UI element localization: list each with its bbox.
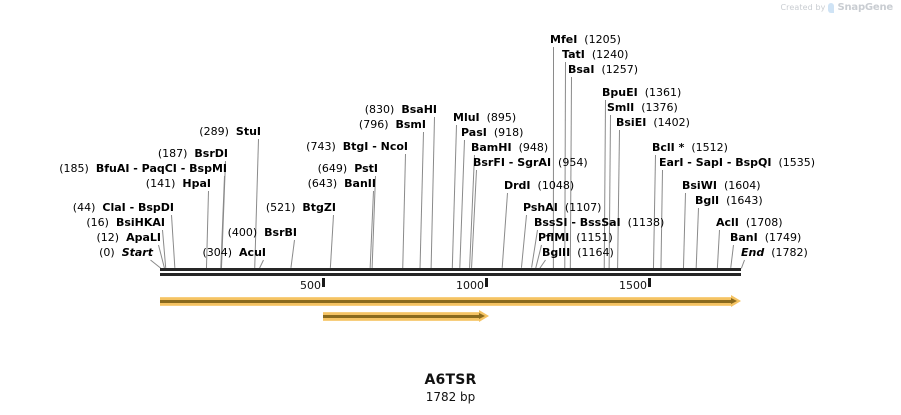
arrow-head-core (731, 298, 737, 304)
enzyme-label-bsiwi[interactable]: BsiWI (1604) (682, 180, 761, 192)
leader-line-btgzi (330, 215, 334, 268)
enzyme-label-pasi[interactable]: PasI (918) (461, 127, 523, 139)
ruler-tick-500 (322, 278, 325, 287)
enzyme-label-tati[interactable]: TatI (1240) (562, 49, 628, 61)
leader-line-drdi (502, 193, 508, 268)
leader-line-acli (717, 230, 720, 268)
enzyme-label-drdi[interactable]: DrdI (1048) (504, 180, 574, 192)
arrow-core-line (160, 300, 732, 303)
enzyme-label-bfuai[interactable]: (185) BfuAI - PaqCI - BspMI (59, 163, 227, 175)
leader-line-end (741, 260, 745, 268)
leader-line-clai (171, 215, 175, 268)
ruler-tick-label-1500: 1500 (619, 279, 647, 292)
feature-arrow-inner[interactable] (323, 312, 489, 321)
snapgene-logo-icon (828, 3, 834, 13)
leader-line-mlui (452, 125, 457, 268)
sequence-name: A6TSR (0, 372, 901, 388)
enzyme-label-bpuei[interactable]: BpuEI (1361) (602, 87, 681, 99)
enzyme-label-bglii[interactable]: BglII (1164) (542, 247, 614, 259)
enzyme-label-hpai[interactable]: (141) HpaI (146, 178, 211, 190)
enzyme-label-acli[interactable]: AclI (1708) (716, 217, 782, 229)
leader-line-bsiei (617, 130, 620, 268)
enzyme-label-pshai[interactable]: PshAI (1107) (523, 202, 601, 214)
leader-line-bsrbi (290, 240, 295, 268)
ruler-tick-1500 (648, 278, 651, 287)
enzyme-label-bsmi[interactable]: (796) BsmI (359, 119, 426, 131)
ruler-tick-label-1000: 1000 (456, 279, 484, 292)
enzyme-label-bcli[interactable]: BclI * (1512) (652, 142, 728, 154)
enzyme-label-end[interactable]: End (1782) (741, 247, 808, 259)
enzyme-label-bsahi[interactable]: (830) BsaHI (365, 104, 437, 116)
enzyme-label-bani[interactable]: BanI (1749) (730, 232, 801, 244)
arrow-core-line (323, 315, 480, 318)
leader-line-bcli (653, 155, 656, 268)
enzyme-label-bsihkai[interactable]: (16) BsiHKAI (86, 217, 165, 229)
enzyme-label-clai[interactable]: (44) ClaI - BspDI (73, 202, 174, 214)
sequence-length: 1782 bp (0, 390, 901, 404)
leader-line-bsiwi (683, 193, 686, 268)
leader-line-bglii (540, 260, 546, 269)
enzyme-label-bsssi[interactable]: BssSI - BssSaI (1138) (534, 217, 664, 229)
enzyme-label-bsiei[interactable]: BsiEI (1402) (616, 117, 690, 129)
leader-line-pasi (459, 140, 465, 268)
leader-line-btgi (402, 154, 406, 268)
arrow-head-core (479, 313, 485, 319)
enzyme-label-stui[interactable]: (289) StuI (199, 126, 261, 138)
leader-line-bsahi (431, 117, 435, 268)
snapgene-credit: Created by SnapGene (780, 2, 893, 13)
credit-prefix: Created by (780, 3, 825, 12)
enzyme-label-bsrfi[interactable]: BsrFI - SgrAI (954) (473, 157, 588, 169)
enzyme-label-eari[interactable]: EarI - SapI - BspQI (1535) (659, 157, 815, 169)
enzyme-label-bamhi[interactable]: BamHI (948) (471, 142, 548, 154)
enzyme-label-btgi[interactable]: (743) BtgI - NcoI (306, 141, 408, 153)
leader-line-bsmi (420, 132, 424, 268)
leader-line-acui (259, 260, 264, 268)
leader-line-bani (730, 245, 734, 268)
leader-line-bgli (696, 208, 699, 268)
feature-arrow-full[interactable] (160, 297, 741, 306)
leader-line-pshai (521, 215, 527, 268)
enzyme-label-psti[interactable]: (649) PstI (318, 163, 378, 175)
enzyme-label-banii[interactable]: (643) BanII (308, 178, 376, 190)
sequence-title-block: A6TSR 1782 bp (0, 372, 901, 404)
sequence-backbone-top (160, 268, 741, 271)
enzyme-label-smli[interactable]: SmlI (1376) (607, 102, 678, 114)
enzyme-label-bsrdi[interactable]: (187) BsrDI (158, 148, 228, 160)
enzyme-label-start[interactable]: (0) Start (99, 247, 153, 259)
enzyme-label-btgzi[interactable]: (521) BtgZI (266, 202, 336, 214)
enzyme-label-acui[interactable]: (304) AcuI (202, 247, 266, 259)
ruler-tick-1000 (485, 278, 488, 287)
sequence-backbone-bottom (160, 273, 741, 276)
ruler-tick-label-500: 500 (300, 279, 321, 292)
enzyme-label-apali[interactable]: (12) ApaLI (96, 232, 161, 244)
restriction-map-canvas: Created by SnapGene (0) Start(12) ApaLI(… (0, 0, 901, 415)
enzyme-label-bsai[interactable]: BsaI (1257) (568, 64, 638, 76)
enzyme-label-bsrbi[interactable]: (400) BsrBI (228, 227, 297, 239)
snapgene-brand: SnapGene (837, 2, 893, 13)
enzyme-label-mfei[interactable]: MfeI (1205) (550, 34, 621, 46)
enzyme-label-mlui[interactable]: MluI (895) (453, 112, 516, 124)
enzyme-label-pflmi[interactable]: PflMI (1151) (538, 232, 613, 244)
enzyme-label-bgli[interactable]: BglI (1643) (695, 195, 763, 207)
